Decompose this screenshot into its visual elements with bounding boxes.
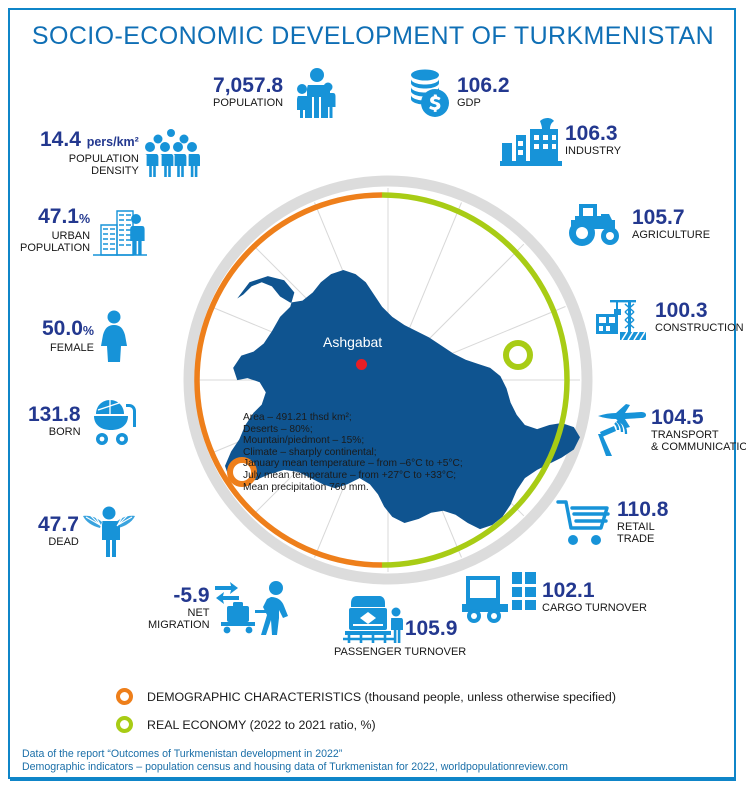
- stat-born: 131.8 BORN: [28, 396, 140, 446]
- stat-value: 105.7: [632, 207, 685, 229]
- stat-agriculture: 105.7 AGRICULTURE: [563, 200, 710, 248]
- stat-label: INDUSTRY: [565, 145, 621, 157]
- stat-label: CARGO TURNOVER: [542, 602, 647, 614]
- factory-icon: [500, 113, 562, 167]
- capital-dot-icon: [356, 359, 367, 370]
- stat-unit: %: [79, 212, 90, 226]
- stat-value: -5.9: [173, 585, 209, 607]
- stat-label: POPULATION: [20, 242, 90, 254]
- info-line: Mountain/piedmont – 15%;: [243, 435, 543, 447]
- green-ring-icon: [116, 716, 133, 733]
- stat-label: TRADE: [617, 533, 654, 545]
- orange-ring-icon: [116, 688, 133, 705]
- stat-retail-trade: 110.8 RETAIL TRADE: [556, 497, 668, 547]
- info-line: Mean precipitation 760 mm.: [243, 482, 543, 494]
- train-icon: [343, 592, 405, 646]
- info-line: Area – 491.21 thsd km²;: [243, 412, 543, 424]
- legend-label: REAL ECONOMY (2022 to 2021 ratio, %): [147, 718, 376, 732]
- people-group-icon: [142, 128, 200, 178]
- crane-icon: [592, 288, 652, 346]
- stat-value: 14.4 pers/km²: [40, 129, 139, 153]
- shopping-cart-icon: [556, 497, 614, 547]
- plane-antenna-icon: [592, 400, 648, 460]
- stat-value: 104.5: [651, 407, 704, 429]
- footer-divider: [10, 779, 736, 781]
- migration-luggage-icon: [213, 580, 299, 636]
- info-line: July mean temperature – from +27°C to +3…: [243, 470, 543, 482]
- baby-stroller-icon: [84, 396, 140, 446]
- stat-value: 47.7: [38, 514, 79, 536]
- stat-unit: %: [83, 324, 94, 338]
- stat-value: 100.3: [655, 300, 708, 322]
- info-line: January mean temperature – from –6°C to …: [243, 458, 543, 470]
- stat-value: 131.8: [28, 404, 81, 426]
- tractor-icon: [563, 200, 629, 248]
- stat-label: TRANSPORT: [651, 429, 719, 441]
- stat-label: CONSTRUCTION: [655, 322, 744, 334]
- legend-economy: REAL ECONOMY (2022 to 2021 ratio, %): [116, 716, 376, 733]
- stat-value: 106.3: [565, 123, 618, 145]
- stat-label: FEMALE: [50, 342, 94, 354]
- legend-demographic: DEMOGRAPHIC CHARACTERISTICS (thousand pe…: [116, 688, 616, 705]
- ring-chart: Ashgabat: [180, 172, 596, 588]
- stat-label: URBAN: [52, 230, 91, 242]
- stat-label: DEAD: [48, 536, 79, 548]
- stat-label: DENSITY: [91, 165, 139, 177]
- stat-label: GDP: [457, 97, 481, 109]
- stat-value: 106.2: [457, 75, 510, 97]
- stat-label: NET: [188, 607, 210, 619]
- stat-passenger-turnover: 105.9 PASSENGER TURNOVER: [334, 592, 466, 658]
- stat-industry: 106.3 INDUSTRY: [500, 113, 621, 167]
- family-icon: [286, 66, 338, 118]
- stat-label: POPULATION: [213, 97, 283, 109]
- stat-value: 7,057.8: [213, 75, 283, 97]
- stat-value: 50.0%: [42, 318, 94, 342]
- stat-value: 105.9: [405, 618, 458, 640]
- stat-label: RETAIL: [617, 521, 655, 533]
- stat-label: AGRICULTURE: [632, 229, 710, 241]
- stat-value: 102.1: [542, 580, 595, 602]
- info-line: Climate – sharply continental;: [243, 447, 543, 459]
- stat-label: & COMMUNICATION: [651, 441, 746, 453]
- footer-line: Data of the report “Outcomes of Turkmeni…: [22, 748, 568, 761]
- page-title: SOCIO-ECONOMIC DEVELOPMENT OF TURKMENIST…: [0, 22, 746, 51]
- info-line: Deserts – 80%;: [243, 424, 543, 436]
- stat-gdp: 106.2 GDP: [404, 66, 510, 118]
- stat-transport-communication: 104.5 TRANSPORT & COMMUNICATION: [592, 400, 746, 460]
- coins-dollar-icon: [404, 66, 454, 118]
- stat-population-density: 14.4 pers/km² POPULATION DENSITY: [40, 128, 200, 178]
- stat-dead: 47.7 DEAD: [38, 505, 136, 557]
- geography-info: Area – 491.21 thsd km²; Deserts – 80%; M…: [243, 412, 543, 493]
- stat-construction: 100.3 CONSTRUCTION: [592, 288, 744, 346]
- angel-icon: [82, 505, 136, 557]
- stat-value: 110.8: [617, 499, 668, 521]
- woman-icon: [97, 310, 131, 362]
- stat-urban-population: 47.1% URBAN POPULATION: [20, 203, 147, 257]
- capital-label: Ashgabat: [323, 334, 382, 350]
- footer-source: Data of the report “Outcomes of Turkmeni…: [22, 748, 568, 774]
- stat-label: MIGRATION: [148, 619, 210, 631]
- stat-value: 47.1%: [38, 206, 90, 230]
- stat-female: 50.0% FEMALE: [42, 310, 131, 362]
- stat-population: 7,057.8 POPULATION: [213, 66, 338, 118]
- stat-net-migration: -5.9 NET MIGRATION: [148, 580, 299, 636]
- stat-unit: pers/km²: [87, 135, 139, 149]
- cargo-truck-icon: [462, 570, 540, 624]
- stat-label: PASSENGER TURNOVER: [334, 646, 466, 658]
- stat-label: BORN: [49, 426, 81, 438]
- stat-label: POPULATION: [69, 153, 139, 165]
- footer-line: Demographic indicators – population cens…: [22, 761, 568, 774]
- economy-marker-icon: [506, 343, 530, 367]
- stat-cargo-turnover: 102.1 CARGO TURNOVER: [462, 570, 647, 624]
- legend-label: DEMOGRAPHIC CHARACTERISTICS (thousand pe…: [147, 690, 616, 704]
- city-buildings-icon: [93, 203, 147, 257]
